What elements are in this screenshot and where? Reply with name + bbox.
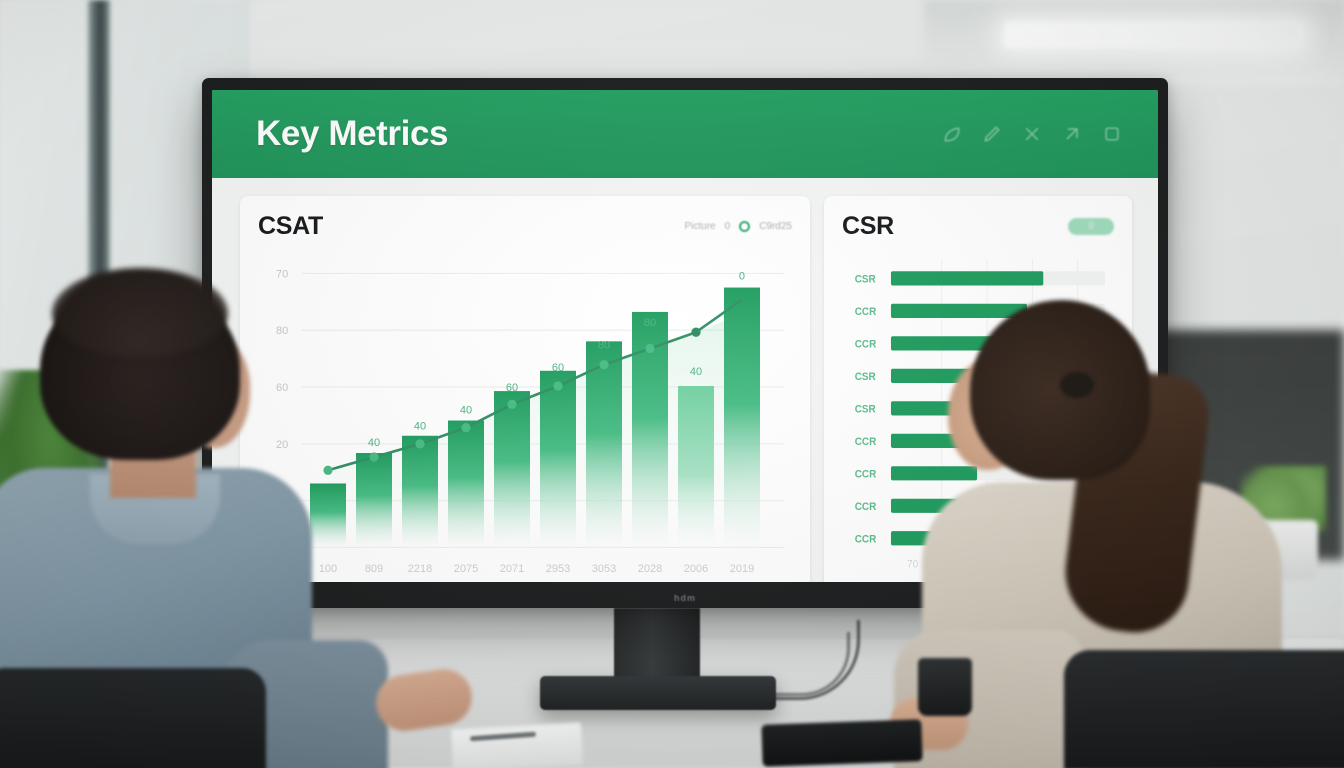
arrow-up-right-icon[interactable] [1062, 124, 1082, 144]
person-right-hair [970, 300, 1150, 480]
chair-right [1064, 650, 1344, 768]
person-right-hair-tie [1060, 372, 1094, 398]
svg-text:40: 40 [414, 421, 426, 433]
svg-text:40: 40 [460, 404, 472, 416]
page-title: Key Metrics [256, 114, 448, 154]
person-left-hair-top [52, 268, 228, 358]
chair-left [0, 668, 266, 768]
header-icon-group [942, 124, 1122, 144]
svg-text:CSR: CSR [855, 370, 876, 383]
csr-status-badge: 0 [1068, 218, 1114, 235]
svg-text:2218: 2218 [408, 563, 432, 575]
svg-text:40: 40 [690, 366, 702, 378]
csr-title: CSR [842, 212, 894, 241]
monitor-stand-base [540, 676, 776, 710]
keyboard [761, 719, 922, 767]
leaf-icon[interactable] [942, 124, 962, 144]
svg-text:CSR: CSR [855, 273, 876, 286]
svg-text:CCR: CCR [855, 533, 877, 546]
legend-value: 0 [725, 221, 731, 232]
svg-text:80: 80 [598, 339, 610, 351]
csat-title: CSAT [258, 212, 323, 241]
svg-text:CCR: CCR [855, 305, 877, 318]
legend-marker-icon [739, 221, 750, 232]
svg-text:2028: 2028 [638, 563, 662, 575]
svg-text:2075: 2075 [454, 563, 478, 575]
svg-text:60: 60 [552, 362, 564, 374]
legend-label: Picture [685, 221, 716, 232]
office-scene: hdm Key Metrics [0, 0, 1344, 768]
svg-text:CCR: CCR [855, 435, 877, 448]
svg-text:CCR: CCR [855, 468, 877, 481]
csr-card-header: CSR 0 [842, 212, 1114, 241]
svg-text:2071: 2071 [500, 563, 524, 575]
csr-category-labels: CSR CCR CCR CSR CSR CCR CCR CCR CCR [855, 273, 877, 546]
csat-card-header: CSAT Picture 0 C9rd25 [258, 212, 792, 241]
monitor-stand-neck [614, 608, 700, 686]
svg-text:CCR: CCR [855, 338, 877, 351]
svg-text:3053: 3053 [592, 563, 616, 575]
notebook [451, 723, 583, 768]
svg-text:60: 60 [506, 382, 518, 394]
app-header: Key Metrics [212, 90, 1158, 178]
svg-text:0: 0 [739, 270, 745, 282]
coffee-mug [918, 658, 972, 716]
svg-text:2953: 2953 [546, 563, 570, 575]
ceiling-light [1004, 22, 1304, 48]
svg-text:2006: 2006 [684, 563, 708, 575]
svg-text:80: 80 [644, 317, 656, 329]
stop-square-icon[interactable] [1102, 124, 1122, 144]
svg-text:2019: 2019 [730, 563, 754, 575]
pencil-icon[interactable] [982, 124, 1002, 144]
legend-series-name: C9rd25 [759, 221, 792, 232]
svg-text:CCR: CCR [855, 500, 877, 513]
csat-x-axis-labels: 100 809 2218 2075 2071 2953 3053 2028 20… [319, 563, 754, 575]
close-icon[interactable] [1022, 124, 1042, 144]
svg-text:CSR: CSR [855, 403, 876, 416]
csat-legend: Picture 0 C9rd25 [685, 221, 793, 232]
